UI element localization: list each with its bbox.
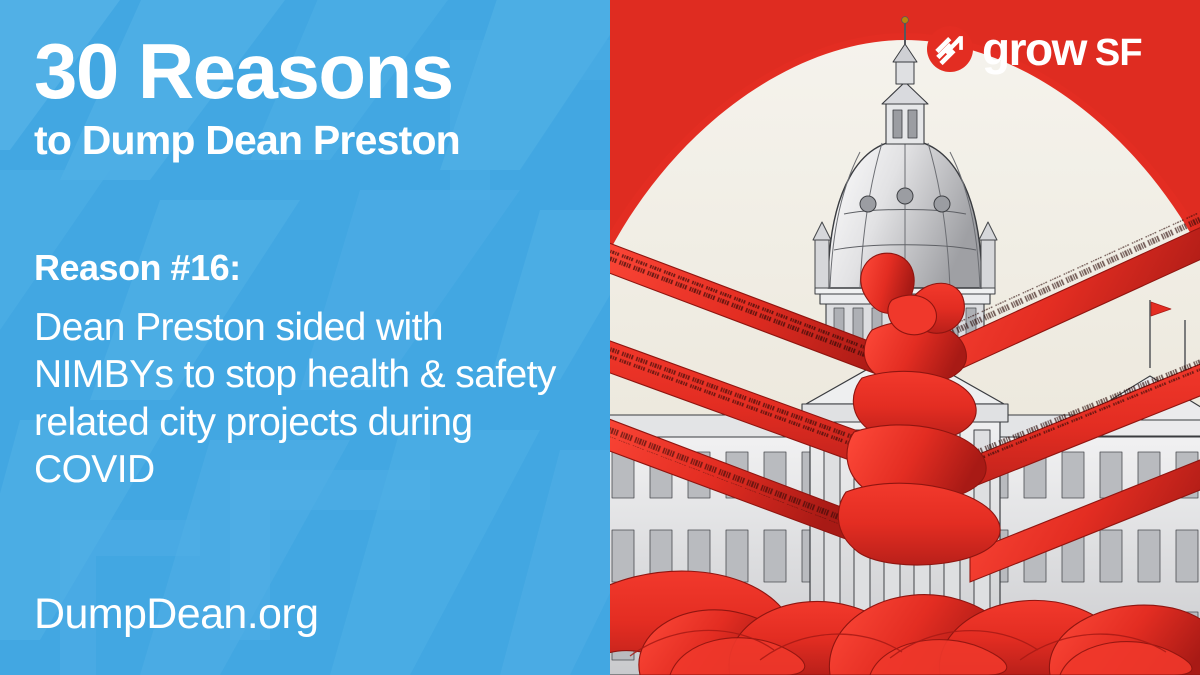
growsf-wordmark: grow SF (982, 26, 1142, 72)
growsf-circle-arrow-icon (927, 26, 973, 72)
headline-block: 30 Reasons to Dump Dean Preston (0, 34, 610, 162)
site-url-block: DumpDean.org (0, 590, 610, 639)
city-hall-red-tape-illustration (610, 0, 1200, 675)
poster-canvas: 30 Reasons to Dump Dean Preston Reason #… (0, 0, 1200, 675)
reason-description: Dean Preston sided with NIMBYs to stop h… (34, 304, 576, 494)
page-title: 30 Reasons (34, 34, 576, 109)
page-subtitle: to Dump Dean Preston (34, 119, 576, 162)
logo-word-sf: SF (1095, 34, 1142, 72)
reason-block: Reason #16: Dean Preston sided with NIMB… (0, 248, 610, 494)
logo-word-grow: grow (982, 26, 1086, 72)
growsf-logo[interactable]: grow SF (927, 26, 1142, 72)
illustration-panel: grow SF (610, 0, 1200, 675)
reason-number-label: Reason #16: (34, 248, 576, 288)
left-text-panel: 30 Reasons to Dump Dean Preston Reason #… (0, 0, 610, 675)
site-url-link[interactable]: DumpDean.org (34, 590, 576, 639)
